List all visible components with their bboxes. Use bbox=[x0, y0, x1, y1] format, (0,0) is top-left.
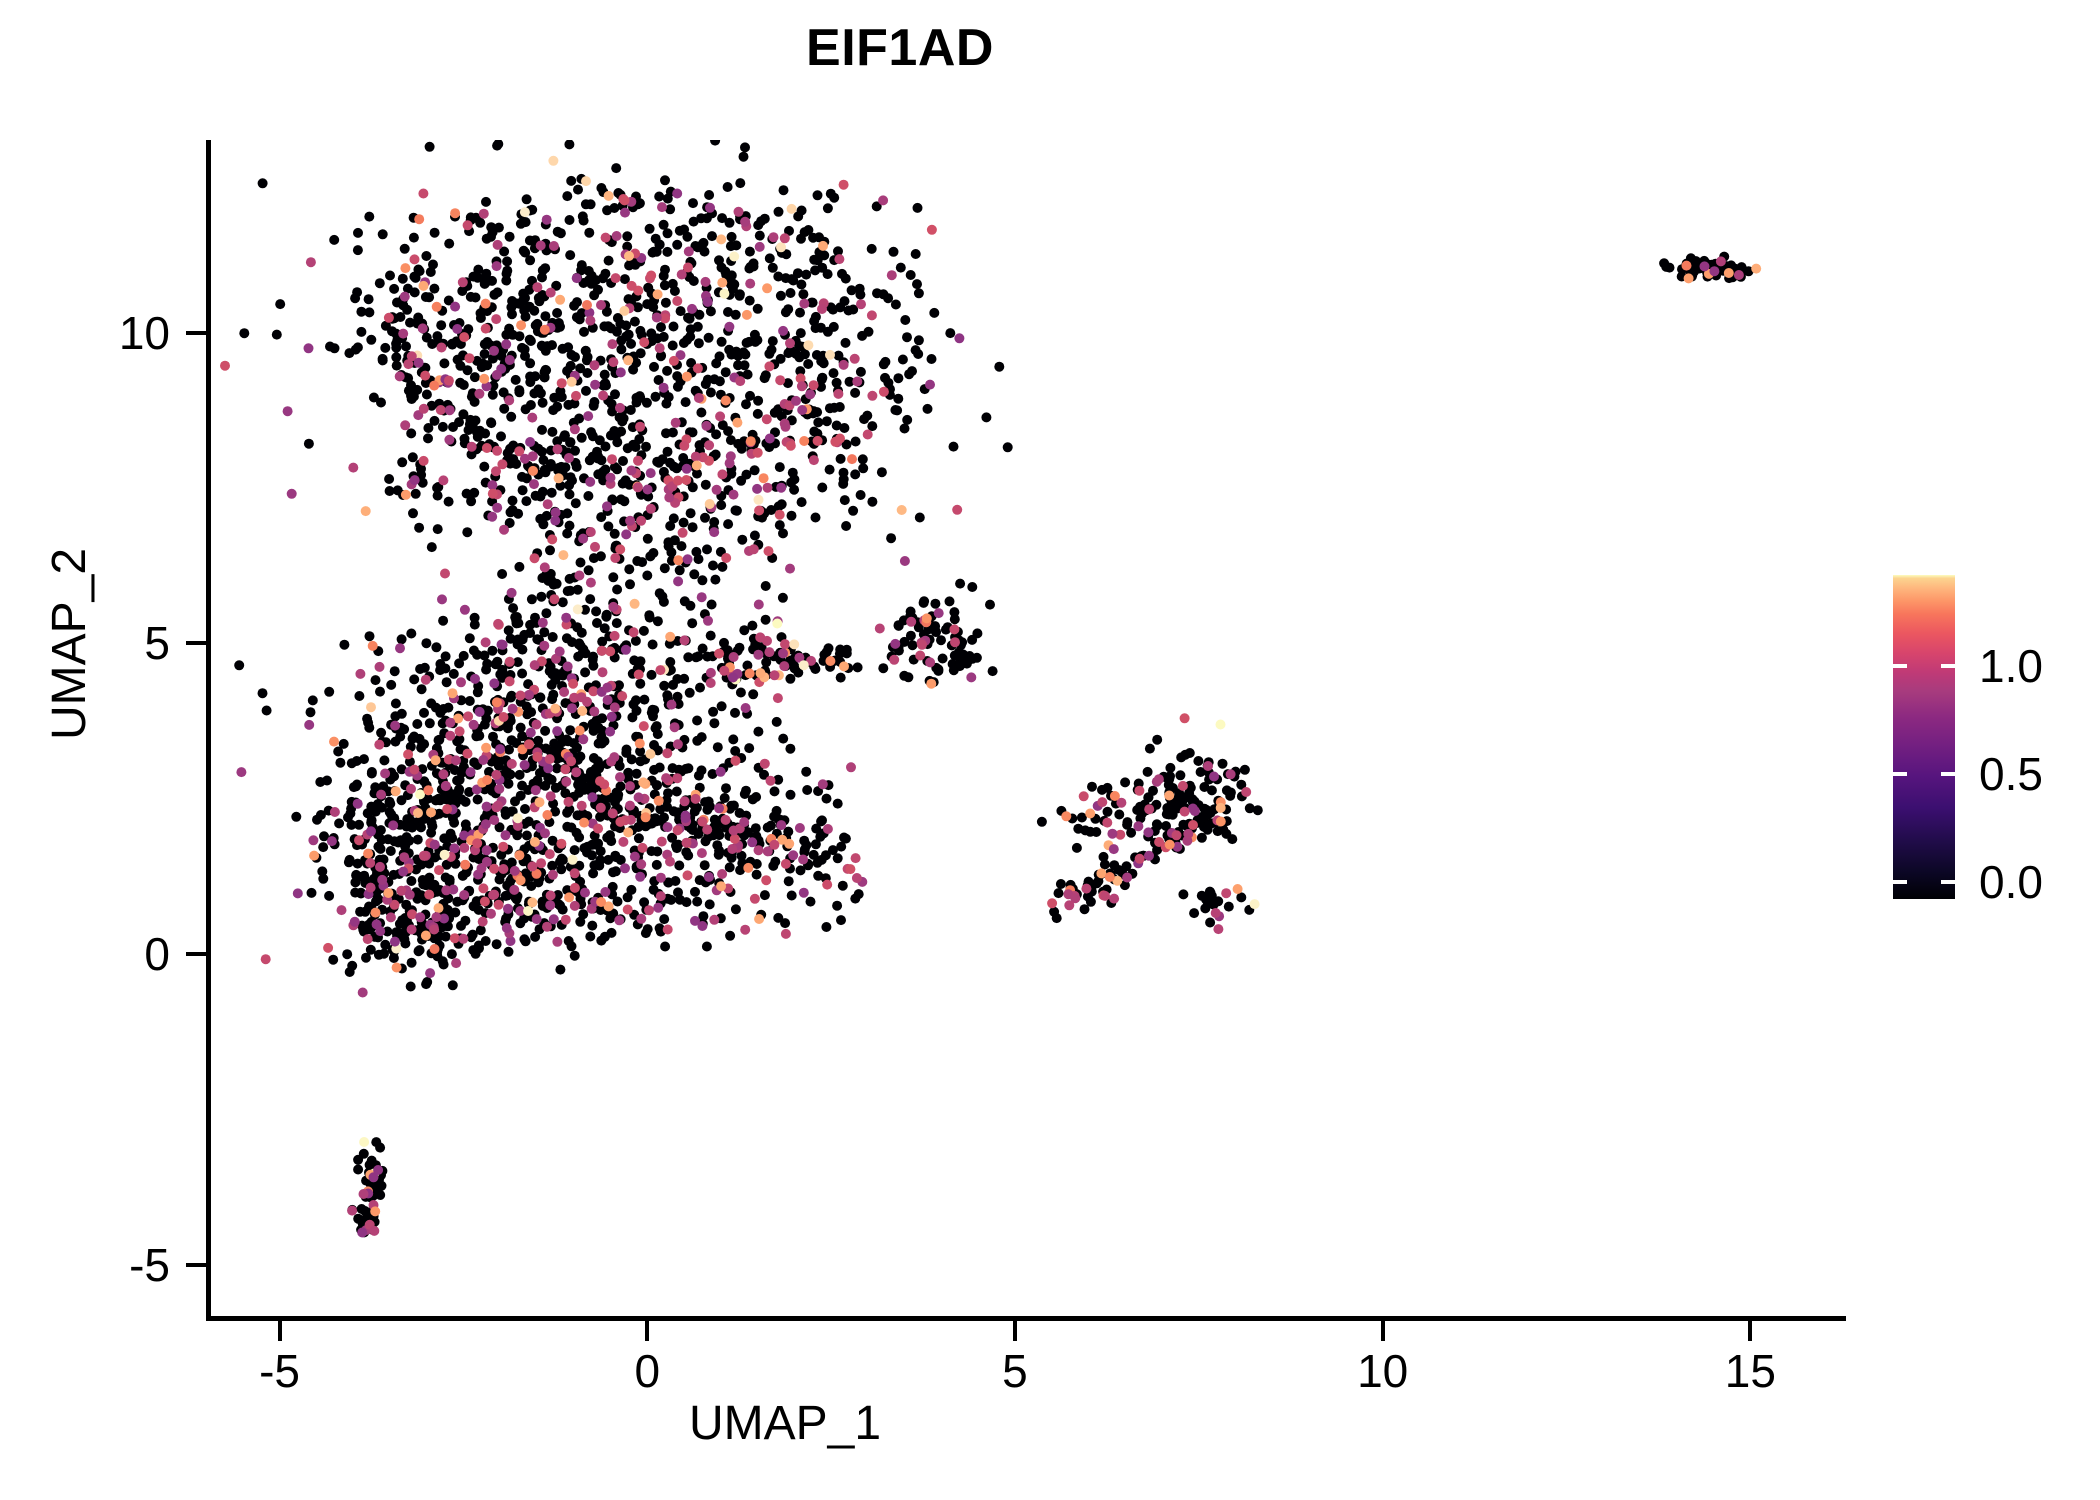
x-tick-label: -5 bbox=[200, 1346, 360, 1397]
x-tick-mark bbox=[278, 1321, 282, 1341]
y-tick-mark bbox=[186, 641, 206, 645]
colorbar-tick-label: 0.0 bbox=[1979, 859, 2043, 905]
x-tick-mark bbox=[1748, 1321, 1752, 1341]
page-title: EIF1AD bbox=[0, 22, 1800, 74]
x-tick-label: 0 bbox=[567, 1346, 727, 1397]
x-tick-label: 15 bbox=[1670, 1346, 1830, 1397]
colorbar-tick-mark bbox=[1941, 664, 1955, 668]
x-tick-label: 10 bbox=[1303, 1346, 1463, 1397]
scatter-points bbox=[206, 140, 1846, 1321]
y-tick-label: 10 bbox=[0, 310, 170, 356]
colorbar-tick-mark bbox=[1941, 880, 1955, 884]
colorbar-tick-label: 1.0 bbox=[1979, 643, 2043, 689]
x-tick-mark bbox=[1013, 1321, 1017, 1341]
x-tick-label: 5 bbox=[935, 1346, 1095, 1397]
color-legend: 1.00.50.0 bbox=[1893, 575, 2093, 905]
x-tick-mark bbox=[645, 1321, 649, 1341]
y-tick-mark bbox=[186, 1263, 206, 1267]
colorbar-tick-mark bbox=[1893, 880, 1907, 884]
y-tick-mark bbox=[186, 331, 206, 335]
y-axis-label: UMAP_2 bbox=[46, 404, 94, 884]
x-tick-mark bbox=[1381, 1321, 1385, 1341]
y-tick-label: 0 bbox=[0, 931, 170, 977]
x-axis-label: UMAP_1 bbox=[205, 1400, 1365, 1448]
figure-root: EIF1AD -5051015 -50510 UMAP_1 UMAP_2 1.0… bbox=[0, 0, 2100, 1500]
scatter-layer bbox=[206, 140, 1846, 1321]
y-tick-mark bbox=[186, 952, 206, 956]
colorbar-tick-mark bbox=[1893, 664, 1907, 668]
colorbar-tick-label: 0.5 bbox=[1979, 751, 2043, 797]
y-tick-label: -5 bbox=[0, 1242, 170, 1288]
colorbar-tick-mark bbox=[1893, 772, 1907, 776]
colorbar-tick-mark bbox=[1941, 772, 1955, 776]
colorbar-gradient bbox=[1893, 575, 1955, 899]
